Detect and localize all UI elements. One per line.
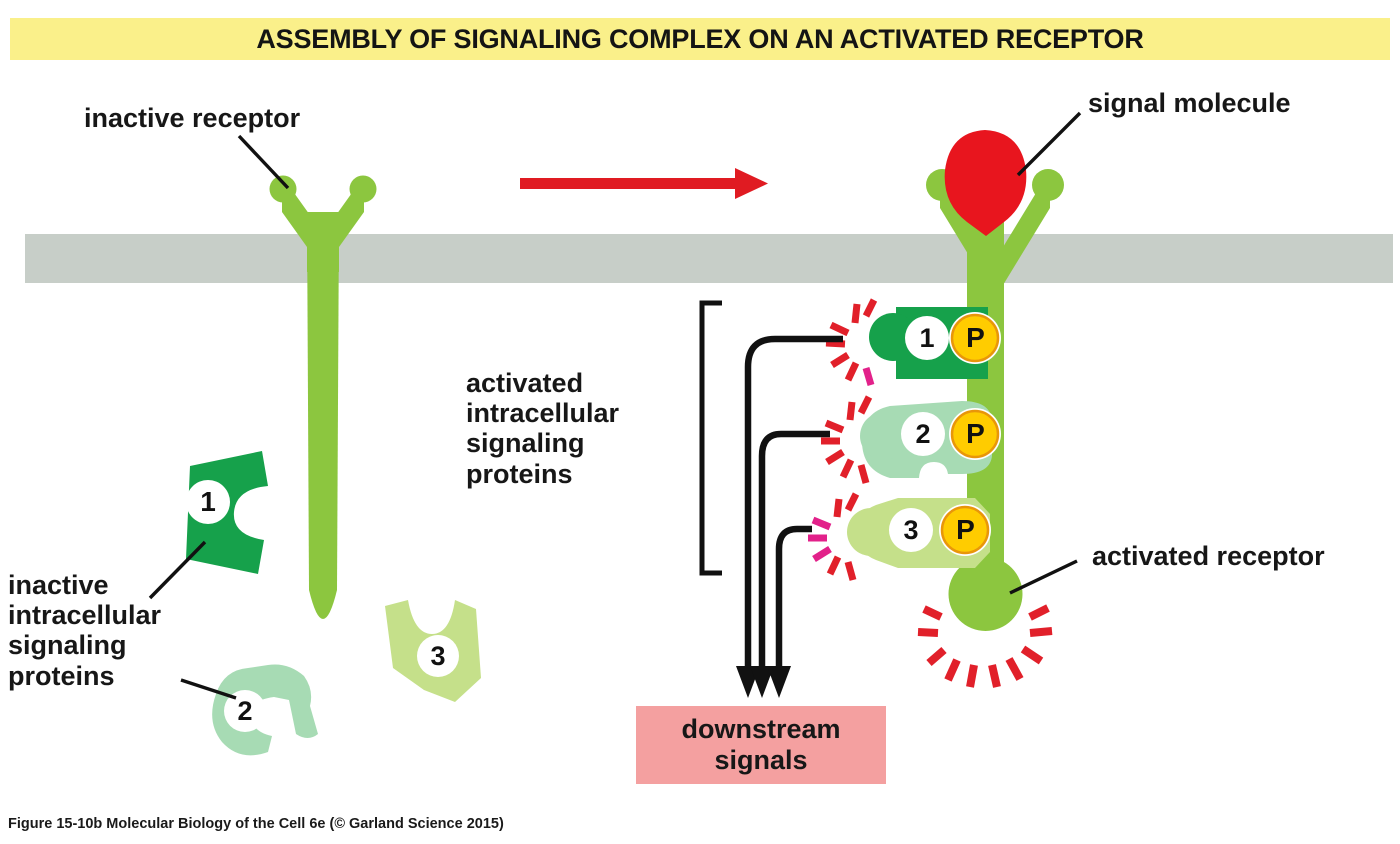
phosphate-label-2: P xyxy=(957,415,994,453)
activated-protein-1-number: 1 xyxy=(908,319,946,357)
label-inactive-proteins: inactive intracellular signaling protein… xyxy=(8,570,161,691)
label-activated-proteins-line-3: signaling xyxy=(466,428,619,458)
transition-arrow xyxy=(520,168,768,199)
label-activated-proteins-line-1: activated xyxy=(466,368,619,398)
label-inactive-receptor: inactive receptor xyxy=(84,103,300,133)
inactive-protein-2-number: 2 xyxy=(226,692,264,730)
phosphate-label-3: P xyxy=(947,511,984,549)
leader-line-activated-receptor xyxy=(1010,561,1077,593)
inactive-protein-3-number: 3 xyxy=(419,637,457,675)
protein-group-bracket xyxy=(702,303,722,573)
inactive-protein-1-number: 1 xyxy=(188,482,228,522)
leader-line-inactive-receptor xyxy=(239,136,288,188)
activation-burst-1 xyxy=(826,300,874,385)
label-inactive-proteins-line-1: inactive xyxy=(8,570,161,600)
plasma-membrane-band xyxy=(25,234,1393,283)
downstream-arrowheads xyxy=(736,666,791,698)
label-signal-molecule: signal molecule xyxy=(1088,88,1291,118)
figure-caption: Figure 15-10b Molecular Biology of the C… xyxy=(8,816,504,832)
phosphate-label-1: P xyxy=(957,319,994,357)
label-inactive-proteins-line-4: proteins xyxy=(8,661,161,691)
downstream-signals-text: downstream signals xyxy=(636,706,886,784)
activated-protein-3-number: 3 xyxy=(892,511,930,549)
label-activated-receptor: activated receptor xyxy=(1092,541,1325,571)
signal-connectors xyxy=(748,339,843,672)
downstream-line-1: downstream xyxy=(681,714,840,745)
label-activated-proteins-line-4: proteins xyxy=(466,459,619,489)
activated-protein-2-number: 2 xyxy=(904,415,942,453)
leader-line-signal-molecule xyxy=(1018,113,1080,175)
figure-canvas: ASSEMBLY OF SIGNALING COMPLEX ON AN ACTI… xyxy=(0,0,1400,844)
downstream-line-2: signals xyxy=(714,745,807,776)
label-inactive-proteins-line-2: intracellular xyxy=(8,600,161,630)
label-activated-proteins: activated intracellular signaling protei… xyxy=(466,368,619,489)
connector-protein-3 xyxy=(779,529,812,672)
label-inactive-proteins-line-3: signaling xyxy=(8,630,161,660)
label-activated-proteins-line-2: intracellular xyxy=(466,398,619,428)
